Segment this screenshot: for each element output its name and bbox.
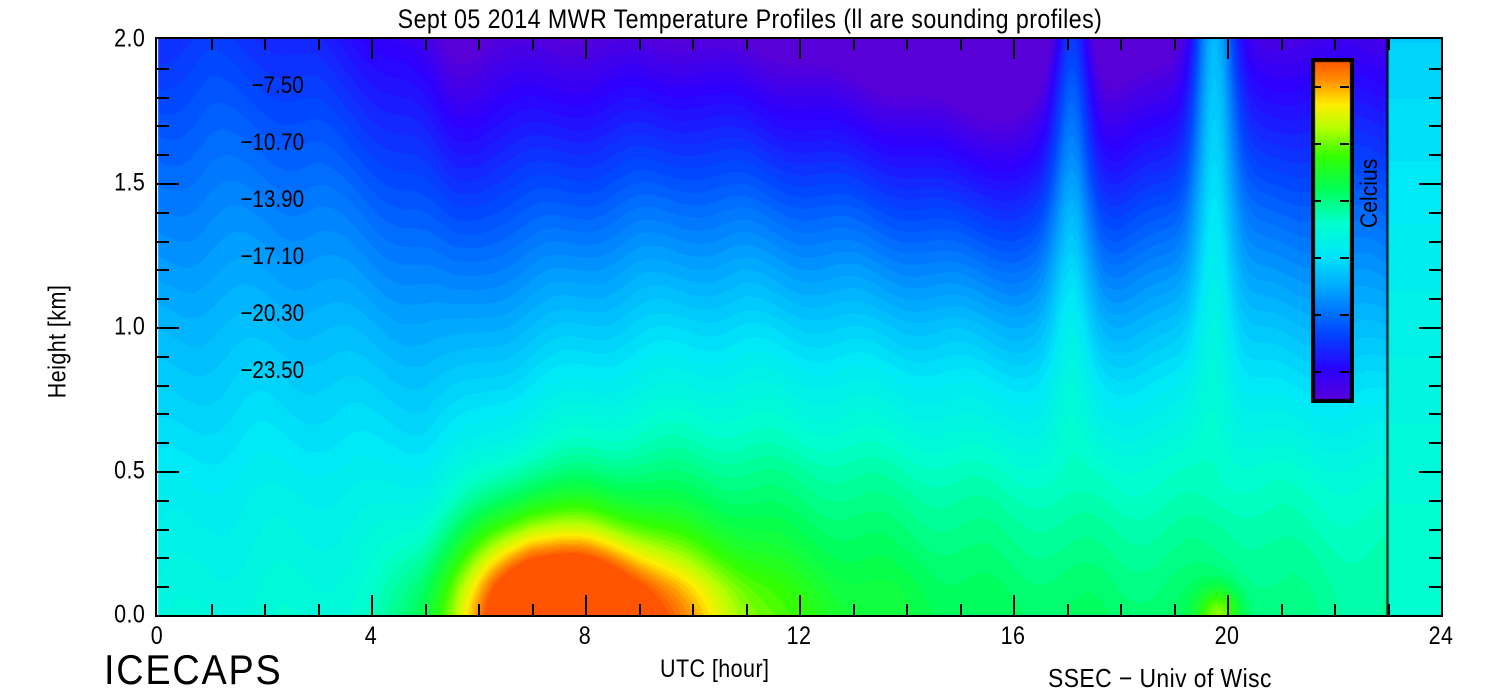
x-tick-top bbox=[1067, 39, 1069, 50]
x-tick-top bbox=[853, 39, 855, 50]
y-tick-right bbox=[1429, 154, 1441, 156]
x-tick-bottom bbox=[1174, 604, 1176, 615]
y-tick-left bbox=[157, 500, 169, 502]
colorbar-tick bbox=[1312, 86, 1321, 88]
x-tick-top bbox=[478, 39, 480, 50]
x-tick-top bbox=[425, 39, 427, 50]
y-tick-right bbox=[1429, 298, 1441, 300]
x-tick-bottom bbox=[1388, 604, 1390, 615]
x-tick-top bbox=[1174, 39, 1176, 50]
x-tick-top bbox=[532, 39, 534, 50]
y-tick-right bbox=[1429, 125, 1441, 127]
x-tick-top bbox=[264, 39, 266, 50]
x-tick-bottom bbox=[1120, 604, 1122, 615]
y-tick-right bbox=[1429, 385, 1441, 387]
x-tick-top bbox=[371, 39, 373, 59]
x-tick-bottom bbox=[1067, 604, 1069, 615]
y-tick-label: 1.5 bbox=[114, 169, 145, 198]
y-tick-right bbox=[1419, 471, 1441, 473]
x-tick-top bbox=[960, 39, 962, 50]
y-tick-left bbox=[157, 269, 169, 271]
x-tick-bottom bbox=[478, 604, 480, 615]
x-tick-bottom bbox=[264, 604, 266, 615]
y-tick-left bbox=[157, 298, 169, 300]
y-tick-left bbox=[157, 183, 179, 185]
y-tick-left bbox=[157, 442, 169, 444]
y-tick-left bbox=[157, 413, 169, 415]
y-tick-right bbox=[1429, 241, 1441, 243]
colorbar-tick-label: −10.70 bbox=[240, 129, 304, 157]
x-tick-top bbox=[1227, 39, 1229, 59]
y-tick-right bbox=[1429, 557, 1441, 559]
colorbar-tick bbox=[1312, 143, 1321, 145]
y-tick-left bbox=[157, 356, 169, 358]
x-tick-bottom bbox=[960, 604, 962, 615]
x-tick-top bbox=[746, 39, 748, 50]
y-tick-left bbox=[157, 529, 169, 531]
y-tick-left bbox=[157, 125, 169, 127]
x-tick-bottom bbox=[1281, 604, 1283, 615]
x-tick-label: 8 bbox=[579, 622, 591, 651]
colorbar-title: Celcius bbox=[1356, 159, 1384, 228]
y-tick-right bbox=[1419, 327, 1441, 329]
colorbar-tick-label: −13.90 bbox=[240, 186, 304, 214]
y-tick-left bbox=[157, 327, 179, 329]
x-tick-top bbox=[639, 39, 641, 50]
x-tick-label: 12 bbox=[787, 622, 812, 651]
y-tick-right bbox=[1429, 68, 1441, 70]
y-tick-right bbox=[1419, 183, 1441, 185]
x-tick-top bbox=[1120, 39, 1122, 50]
x-tick-bottom bbox=[532, 604, 534, 615]
y-tick-left bbox=[157, 97, 169, 99]
colorbar-tick bbox=[1340, 86, 1349, 88]
x-tick-bottom bbox=[371, 595, 373, 615]
colorbar-tick bbox=[1340, 143, 1349, 145]
x-tick-bottom bbox=[425, 604, 427, 615]
y-tick-right bbox=[1429, 529, 1441, 531]
page-title: Sept 05 2014 MWR Temperature Profiles (l… bbox=[105, 4, 1395, 35]
x-tick-top bbox=[1388, 39, 1390, 50]
figure-root: Sept 05 2014 MWR Temperature Profiles (l… bbox=[0, 0, 1500, 700]
y-tick-right bbox=[1429, 212, 1441, 214]
y-tick-right bbox=[1429, 97, 1441, 99]
x-tick-label: 24 bbox=[1429, 622, 1454, 651]
colorbar-tick bbox=[1312, 314, 1321, 316]
x-tick-bottom bbox=[639, 604, 641, 615]
x-axis-title: UTC [hour] bbox=[660, 655, 769, 684]
colorbar-tick bbox=[1340, 314, 1349, 316]
y-tick-label: 1.0 bbox=[114, 313, 145, 342]
x-tick-bottom bbox=[1334, 604, 1336, 615]
x-tick-top bbox=[906, 39, 908, 50]
y-tick-left bbox=[157, 586, 169, 588]
y-tick-right bbox=[1429, 356, 1441, 358]
x-tick-bottom bbox=[585, 595, 587, 615]
plot-area bbox=[155, 37, 1443, 617]
x-tick-top bbox=[1281, 39, 1283, 50]
x-tick-top bbox=[318, 39, 320, 50]
temperature-field-heatmap bbox=[157, 39, 1441, 615]
y-tick-right bbox=[1429, 500, 1441, 502]
attribution-label: SSEC − Univ of Wisc bbox=[1048, 663, 1272, 694]
x-tick-top bbox=[585, 39, 587, 59]
x-tick-bottom bbox=[853, 604, 855, 615]
y-tick-label: 2.0 bbox=[114, 25, 145, 54]
colorbar-gradient bbox=[1311, 58, 1354, 403]
x-tick-bottom bbox=[318, 604, 320, 615]
x-tick-top bbox=[1013, 39, 1015, 59]
x-tick-top bbox=[799, 39, 801, 59]
x-tick-top bbox=[692, 39, 694, 50]
y-tick-left bbox=[157, 68, 169, 70]
x-tick-label: 16 bbox=[1001, 622, 1026, 651]
x-tick-top bbox=[211, 39, 213, 50]
colorbar-tick bbox=[1312, 257, 1321, 259]
colorbar-tick bbox=[1312, 200, 1321, 202]
colorbar-tick-label: −17.10 bbox=[240, 243, 304, 271]
x-tick-bottom bbox=[692, 604, 694, 615]
y-tick-left bbox=[157, 241, 169, 243]
y-tick-left bbox=[157, 154, 169, 156]
colorbar-tick-label: −23.50 bbox=[240, 357, 304, 385]
colorbar-tick-label: −7.50 bbox=[252, 72, 304, 100]
x-tick-top bbox=[1334, 39, 1336, 50]
x-tick-label: 4 bbox=[365, 622, 377, 651]
x-tick-bottom bbox=[211, 604, 213, 615]
y-tick-right bbox=[1429, 269, 1441, 271]
y-tick-label: 0.5 bbox=[114, 457, 145, 486]
y-tick-right bbox=[1429, 586, 1441, 588]
colorbar-tick-label: −20.30 bbox=[240, 300, 304, 328]
y-tick-left bbox=[157, 385, 169, 387]
x-tick-bottom bbox=[746, 604, 748, 615]
x-tick-bottom bbox=[1013, 595, 1015, 615]
colorbar bbox=[1311, 58, 1350, 399]
y-tick-right bbox=[1429, 442, 1441, 444]
y-tick-label: 0.0 bbox=[114, 601, 145, 630]
colorbar-tick bbox=[1340, 200, 1349, 202]
y-tick-left bbox=[157, 471, 179, 473]
x-tick-bottom bbox=[1227, 595, 1229, 615]
colorbar-tick bbox=[1312, 371, 1321, 373]
colorbar-tick bbox=[1340, 257, 1349, 259]
y-tick-left bbox=[157, 557, 169, 559]
x-tick-label: 20 bbox=[1215, 622, 1240, 651]
project-label-icecaps: ICECAPS bbox=[104, 646, 283, 694]
x-tick-bottom bbox=[799, 595, 801, 615]
y-axis-title: Height [km] bbox=[44, 256, 73, 428]
colorbar-tick bbox=[1340, 371, 1349, 373]
y-tick-left bbox=[157, 212, 169, 214]
x-tick-bottom bbox=[906, 604, 908, 615]
y-tick-right bbox=[1429, 413, 1441, 415]
